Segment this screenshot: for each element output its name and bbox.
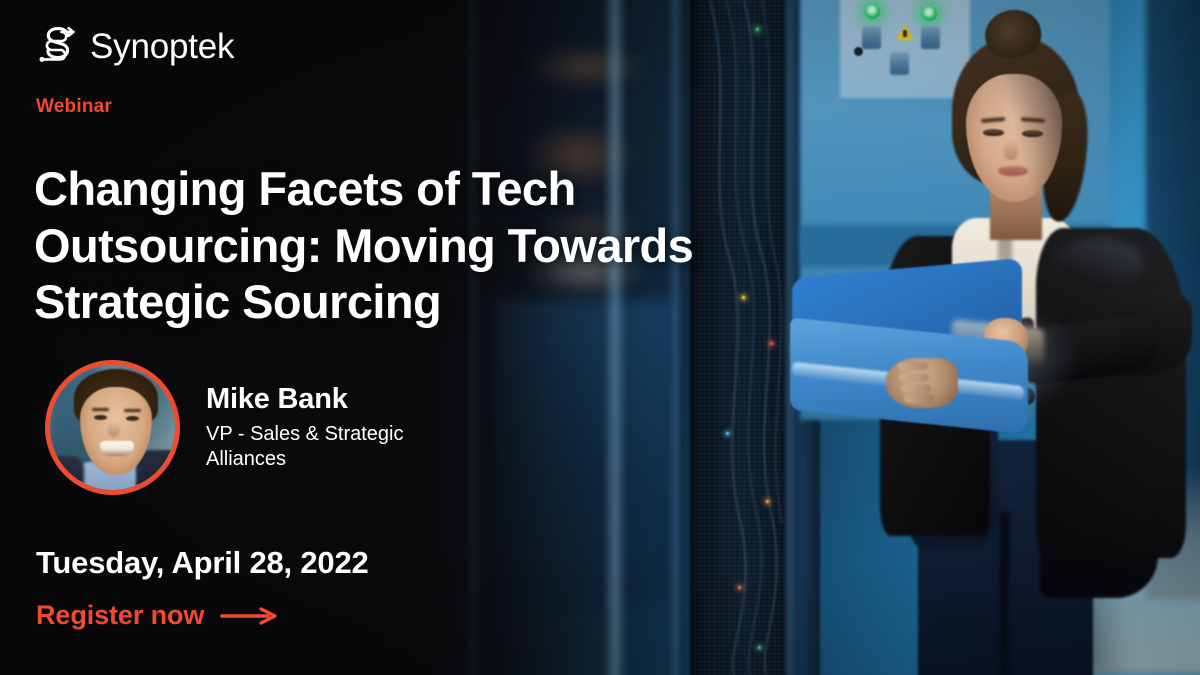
synoptek-wordmark: Synoptek	[90, 29, 234, 64]
speaker-name: Mike Bank	[206, 383, 456, 416]
speaker-details: Mike Bank VP - Sales & Strategic Allianc…	[206, 383, 456, 471]
event-date: Tuesday, April 28, 2022	[36, 545, 369, 581]
banner-content: Synoptek Webinar Changing Facets of Tech…	[0, 0, 1200, 675]
speaker-avatar	[45, 360, 180, 495]
synoptek-s-arrow-logo-icon	[36, 26, 80, 66]
webinar-title: Changing Facets of Tech Outsourcing: Mov…	[34, 161, 844, 330]
webinar-eyebrow-label: Webinar	[36, 96, 112, 118]
webinar-promo-banner: Synoptek Webinar Changing Facets of Tech…	[0, 0, 1200, 675]
speaker-role: VP - Sales & Strategic Alliances	[206, 422, 456, 472]
register-now-label: Register now	[36, 600, 204, 631]
speaker-block: Mike Bank VP - Sales & Strategic Allianc…	[45, 360, 456, 495]
synoptek-logo[interactable]: Synoptek	[36, 26, 234, 66]
speaker-headshot-photo	[50, 365, 175, 490]
arrow-right-icon	[220, 605, 278, 627]
register-now-cta[interactable]: Register now	[36, 600, 278, 631]
